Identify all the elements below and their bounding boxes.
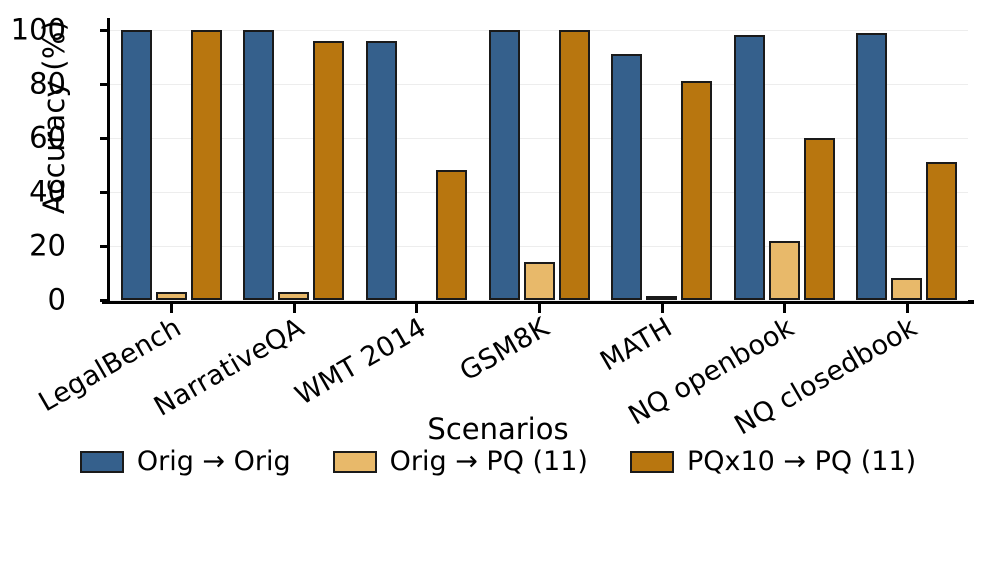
legend-entry[interactable]: PQx10 → PQ (11) (630, 446, 916, 477)
y-tick-mark (100, 245, 108, 248)
gridline (110, 300, 968, 301)
plot-area: 020406080100 (110, 30, 968, 300)
bar (611, 54, 642, 300)
y-tick-label: 80 (0, 70, 66, 99)
bar (926, 162, 957, 300)
legend-label: PQx10 → PQ (11) (687, 446, 916, 477)
bar (769, 241, 800, 300)
y-tick-label: 20 (0, 232, 66, 261)
y-tick-mark (100, 137, 108, 140)
bar (191, 30, 222, 300)
y-tick-mark (100, 191, 108, 194)
y-tick-label: 100 (0, 16, 66, 45)
legend-swatch-icon (630, 451, 674, 473)
bar (313, 41, 344, 300)
y-tick-label: 40 (0, 178, 66, 207)
legend-swatch-icon (80, 451, 124, 473)
gridline (110, 84, 968, 85)
y-tick-label: 60 (0, 124, 66, 153)
gridline (110, 30, 968, 31)
y-tick-label: 0 (0, 286, 66, 315)
gridline (110, 138, 968, 139)
legend-label: Orig → Orig (137, 446, 291, 477)
y-tick-mark (100, 299, 108, 302)
chart-legend: Orig → OrigOrig → PQ (11)PQx10 → PQ (11) (0, 446, 996, 477)
bar (734, 35, 765, 300)
bar (278, 292, 309, 300)
bar (559, 30, 590, 300)
gridline (110, 246, 968, 247)
bar (646, 296, 677, 300)
bar-chart-figure: Accuracy (%) 020406080100 LegalBenchNarr… (0, 0, 996, 586)
gridline (110, 192, 968, 193)
y-tick-mark (100, 83, 108, 86)
bar (856, 33, 887, 300)
y-axis-spine (107, 18, 110, 303)
y-tick-mark (100, 29, 108, 32)
legend-entry[interactable]: Orig → Orig (80, 446, 291, 477)
bar (121, 30, 152, 300)
bar (436, 170, 467, 300)
bar (366, 41, 397, 300)
bar (524, 262, 555, 300)
bar (243, 30, 274, 300)
legend-label: Orig → PQ (11) (390, 446, 588, 477)
legend-entry[interactable]: Orig → PQ (11) (333, 446, 588, 477)
bar (891, 278, 922, 300)
bar (804, 138, 835, 300)
x-axis-label: Scenarios (0, 412, 996, 446)
bar (681, 81, 712, 300)
legend-swatch-icon (333, 451, 377, 473)
bar (156, 292, 187, 300)
bar (489, 30, 520, 300)
